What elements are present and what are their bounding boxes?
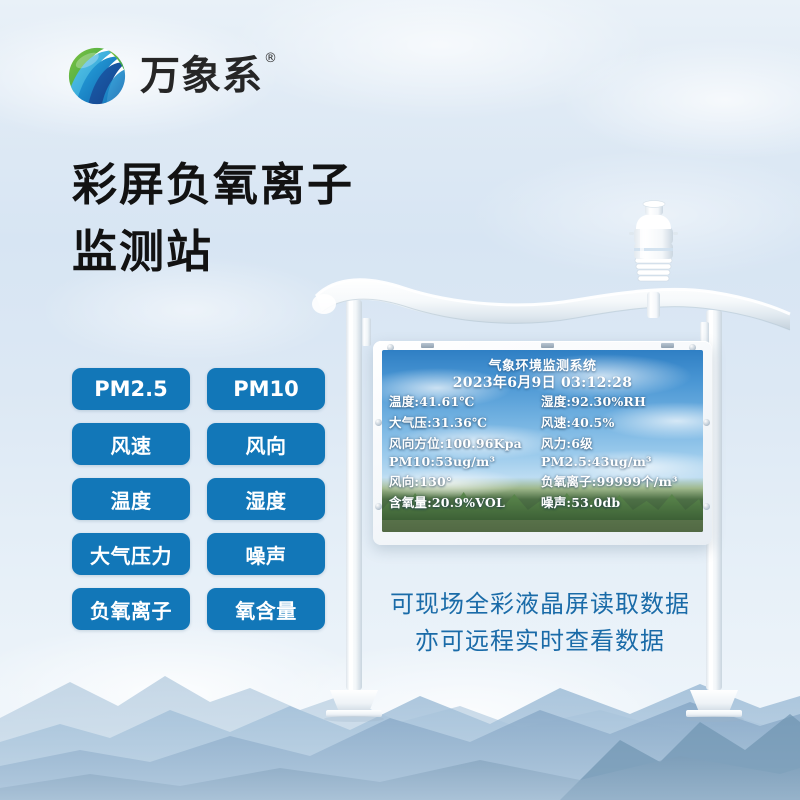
mount-bracket xyxy=(421,343,434,348)
tag-humidity[interactable]: 湿度 xyxy=(207,478,325,520)
readout-wind-direction: 风向:130° xyxy=(389,471,541,490)
readout-row: 含氧量:20.9%VOL 噪声:53.0db xyxy=(389,492,698,511)
caption-line-2: 亦可远程实时查看数据 xyxy=(380,623,700,660)
base-plate-right xyxy=(690,690,738,712)
readout-wind-bearing: 风向方位:100.96Kpa xyxy=(389,433,541,452)
bezel-screw xyxy=(703,419,710,426)
caption-line-1: 可现场全彩液晶屏读取数据 xyxy=(380,586,700,623)
headline-line-2: 监测站 xyxy=(72,219,354,286)
feature-caption: 可现场全彩液晶屏读取数据 亦可远程实时查看数据 xyxy=(380,586,700,660)
readout-wind-speed: 风速:40.5% xyxy=(541,412,698,431)
lcd-screen-content: 气象环境监测系统 2023年6月9日 03:12:28 温度:41.61℃ 湿度… xyxy=(382,350,703,532)
readout-noise: 噪声:53.0db xyxy=(541,492,698,511)
mount-bracket xyxy=(541,343,554,348)
feature-tag-grid: PM2.5 PM10 风速 风向 温度 湿度 大气压力 噪声 负氧离子 氧含量 xyxy=(72,368,325,630)
tag-temperature[interactable]: 温度 xyxy=(72,478,190,520)
readout-oxygen: 含氧量:20.9%VOL xyxy=(389,492,541,511)
readout-row: PM10:53ug/m³ PM2.5:43ug/m³ xyxy=(389,454,698,469)
readout-row: 风向方位:100.96Kpa 风力:6级 xyxy=(389,433,698,452)
base-plate-left xyxy=(330,690,378,712)
tag-negative-ions[interactable]: 负氧离子 xyxy=(72,588,190,630)
readout-pm10: PM10:53ug/m³ xyxy=(389,454,541,469)
tag-air-pressure[interactable]: 大气压力 xyxy=(72,533,190,575)
cloud-decor xyxy=(230,0,650,120)
brand-logo: 万象系® xyxy=(66,45,263,107)
tag-wind-speed[interactable]: 风速 xyxy=(72,423,190,465)
page-title: 彩屏负氧离子 监测站 xyxy=(72,152,354,285)
tag-pm10[interactable]: PM10 xyxy=(207,368,325,410)
readout-negative-ions: 负氧离子:99999个/m³ xyxy=(541,471,698,490)
tag-noise[interactable]: 噪声 xyxy=(207,533,325,575)
cloud-decor xyxy=(250,640,680,790)
tag-wind-direction[interactable]: 风向 xyxy=(207,423,325,465)
readout-row: 温度:41.61℃ 湿度:92.30%RH xyxy=(389,391,698,410)
readout-humidity: 湿度:92.30%RH xyxy=(541,391,698,410)
tag-oxygen-content[interactable]: 氧含量 xyxy=(207,588,325,630)
bezel-screw xyxy=(375,419,382,426)
mount-bracket xyxy=(661,343,674,348)
curved-canopy xyxy=(312,280,790,330)
weather-sensor xyxy=(629,201,678,318)
registered-mark: ® xyxy=(264,52,278,65)
tag-pm25[interactable]: PM2.5 xyxy=(72,368,190,410)
headline-line-1: 彩屏负氧离子 xyxy=(72,152,354,219)
poster-canvas: 万象系® 彩屏负氧离子 监测站 xyxy=(0,0,800,800)
globe-swirl-logo-icon xyxy=(66,45,128,107)
bezel-screw xyxy=(703,503,710,510)
readout-temperature: 温度:41.61℃ xyxy=(389,391,541,410)
cloud-decor xyxy=(0,620,380,770)
readout-air-pressure: 大气压:31.36℃ xyxy=(389,412,541,431)
screen-datetime: 2023年6月9日 03:12:28 xyxy=(382,372,703,392)
readout-row: 大气压:31.36℃ 风速:40.5% xyxy=(389,412,698,431)
brand-name: 万象系® xyxy=(140,56,263,96)
cloud-decor xyxy=(470,150,800,280)
lcd-display-unit[interactable]: 气象环境监测系统 2023年6月9日 03:12:28 温度:41.61℃ 湿度… xyxy=(373,341,712,545)
readout-pm25: PM2.5:43ug/m³ xyxy=(541,454,698,469)
bezel-screw xyxy=(375,503,382,510)
readout-row: 风向:130° 负氧离子:99999个/m³ xyxy=(389,471,698,490)
cloud-decor xyxy=(560,40,800,160)
readout-wind-force: 风力:6级 xyxy=(541,433,698,452)
sensor-readout-list: 温度:41.61℃ 湿度:92.30%RH 大气压:31.36℃ 风速:40.5… xyxy=(389,391,698,511)
